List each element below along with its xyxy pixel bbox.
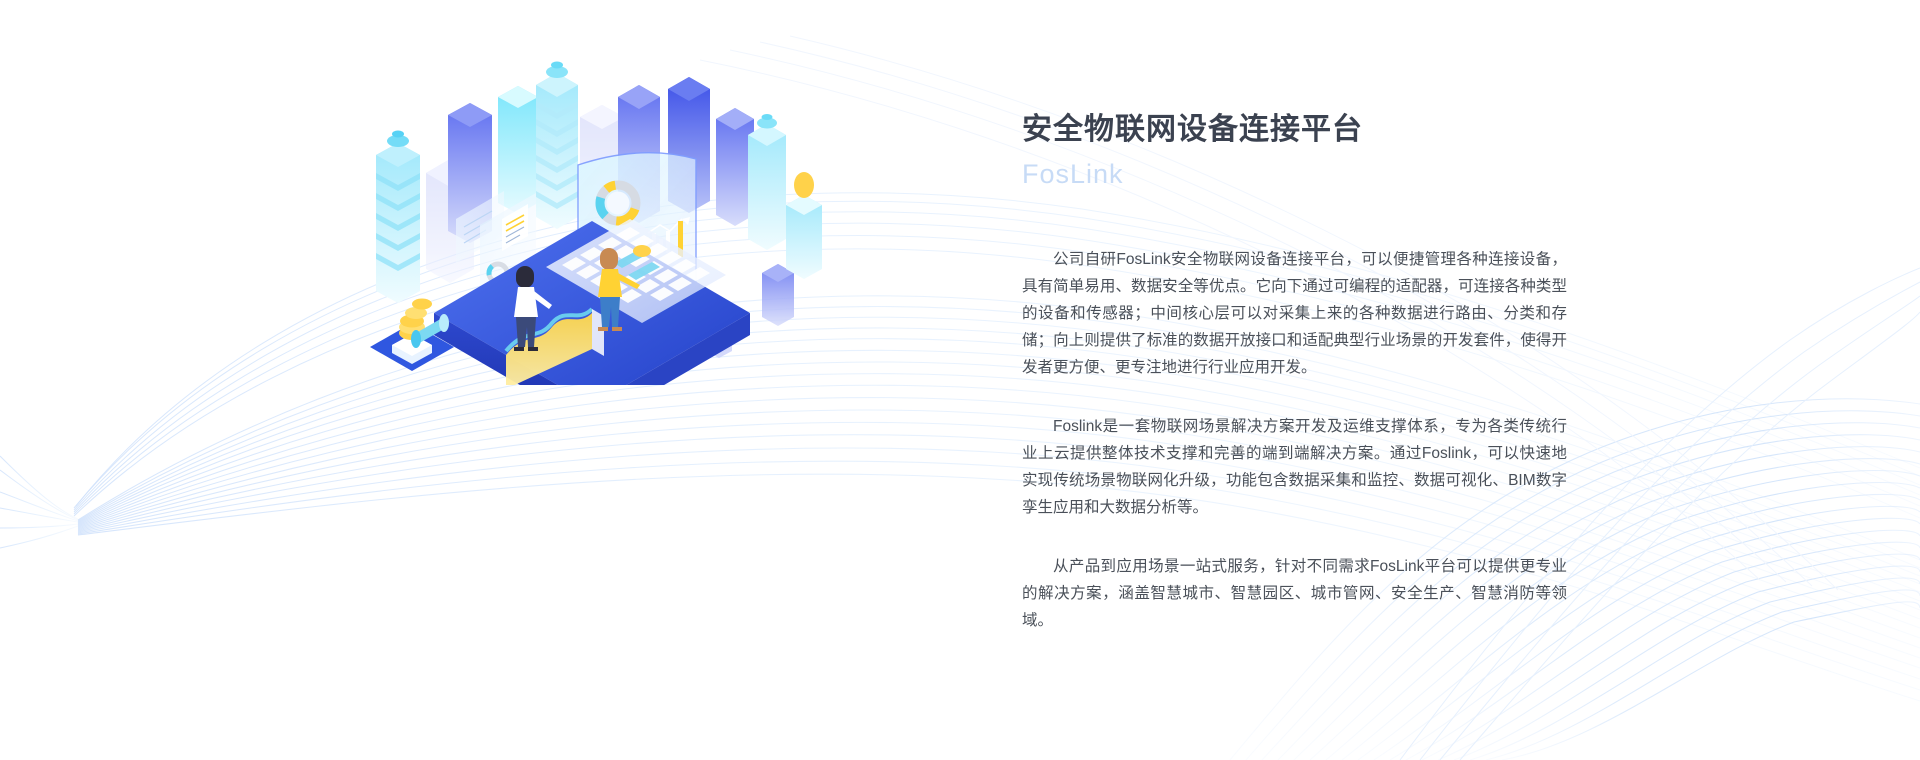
tower-small-right xyxy=(762,264,794,326)
tower-tiered-right xyxy=(748,114,786,250)
tower-tiered-left xyxy=(376,131,420,304)
description-paragraph-3: 从产品到应用场景一站式服务，针对不同需求FosLink平台可以提供更专业的解决方… xyxy=(1022,553,1567,634)
wave-group-left-lower xyxy=(0,456,78,548)
page-title: 安全物联网设备连接平台 xyxy=(1022,108,1567,152)
hero-banner-page: 安全物联网设备连接平台 FosLink 公司自研FosLink安全物联网设备连接… xyxy=(0,0,1920,760)
background-wave-pattern xyxy=(0,0,1920,760)
tower-tiered-center xyxy=(536,62,578,230)
description-paragraph-1: 公司自研FosLink安全物联网设备连接平台，可以便捷管理各种连接设备，具有简单… xyxy=(1022,246,1567,381)
description-paragraph-2: Foslink是一套物联网场景解决方案开发及运维支撑体系，专为各类传统行业上云提… xyxy=(1022,413,1567,521)
iot-platform-illustration xyxy=(330,55,850,385)
product-name-subtitle: FosLink xyxy=(1022,154,1567,194)
coin-on-pillar xyxy=(786,172,822,279)
hero-text-column: 安全物联网设备连接平台 FosLink 公司自研FosLink安全物联网设备连接… xyxy=(1022,108,1567,634)
